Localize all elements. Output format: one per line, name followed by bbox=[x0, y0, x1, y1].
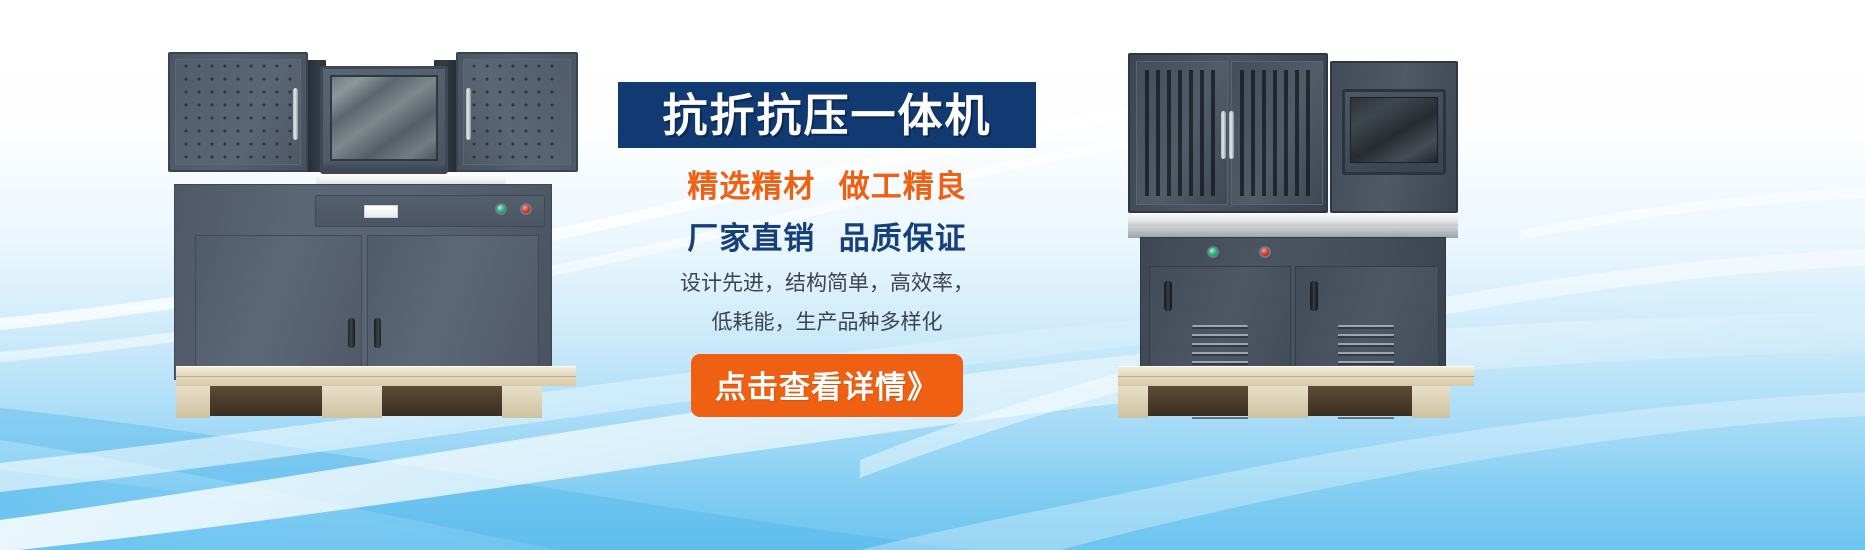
monitor-screen bbox=[330, 75, 438, 161]
title-banner: 抗折抗压一体机 bbox=[618, 82, 1036, 148]
machine-right-pallet bbox=[1118, 366, 1474, 420]
cabinet-handle bbox=[1229, 111, 1234, 159]
monitor-screen bbox=[1350, 97, 1438, 163]
description-line-2: 低耗能，生产品种多样化 bbox=[618, 306, 1036, 336]
door-handle bbox=[1164, 281, 1172, 311]
perforation-holes-icon bbox=[1240, 70, 1314, 196]
subtitle-orange: 精选精材 做工精良 bbox=[618, 161, 1036, 206]
machine-left-body bbox=[174, 184, 552, 380]
subtitle-blue: 厂家直销 品质保证 bbox=[618, 213, 1036, 258]
power-indicator-green bbox=[1207, 246, 1219, 258]
machine-right-upper-door-left bbox=[1136, 61, 1228, 205]
machine-right-monitor bbox=[1342, 89, 1446, 175]
machine-right-upper-cabinet bbox=[1128, 53, 1328, 213]
drawer-label bbox=[364, 205, 398, 218]
door-handle bbox=[348, 318, 355, 348]
machine-left-door-right bbox=[367, 235, 539, 373]
promo-text-block: 抗折抗压一体机 精选精材 做工精良 厂家直销 品质保证 设计先进，结构简单，高效… bbox=[618, 82, 1048, 452]
perforation-holes-icon bbox=[472, 64, 562, 160]
door-handle bbox=[374, 318, 381, 348]
perforation-holes-icon bbox=[1145, 70, 1219, 196]
power-indicator-green bbox=[495, 203, 507, 215]
power-indicator-red bbox=[520, 203, 532, 215]
machine-left-door-left bbox=[195, 235, 362, 373]
cabinet-handle bbox=[293, 88, 298, 140]
machine-right-monitor-cabinet bbox=[1330, 61, 1458, 213]
machine-left-pallet bbox=[176, 366, 576, 420]
machine-right-white-strip bbox=[1128, 213, 1458, 226]
machine-left-perforated-panel-right bbox=[456, 52, 578, 172]
page-title: 抗折抗压一体机 bbox=[662, 93, 991, 138]
view-details-button[interactable]: 点击查看详情》 bbox=[691, 354, 963, 417]
product-promo-banner: 抗折抗压一体机 精选精材 做工精良 厂家直销 品质保证 设计先进，结构简单，高效… bbox=[0, 0, 1865, 550]
monitor-bezel bbox=[323, 162, 445, 171]
cta-container: 点击查看详情》 bbox=[618, 354, 1036, 417]
perforation-holes-icon bbox=[184, 64, 292, 160]
cabinet-handle bbox=[466, 88, 471, 140]
power-indicator-red bbox=[1259, 246, 1271, 258]
machine-left-monitor bbox=[320, 66, 448, 174]
machine-right-upper-door-right bbox=[1231, 61, 1323, 205]
machine-left-control-drawer bbox=[315, 195, 545, 227]
machine-left-perforated-panel-left bbox=[168, 52, 308, 172]
cabinet-handle bbox=[1221, 111, 1226, 159]
description-line-1: 设计先进，结构简单，高效率， bbox=[618, 267, 1036, 297]
door-handle bbox=[1310, 281, 1318, 311]
